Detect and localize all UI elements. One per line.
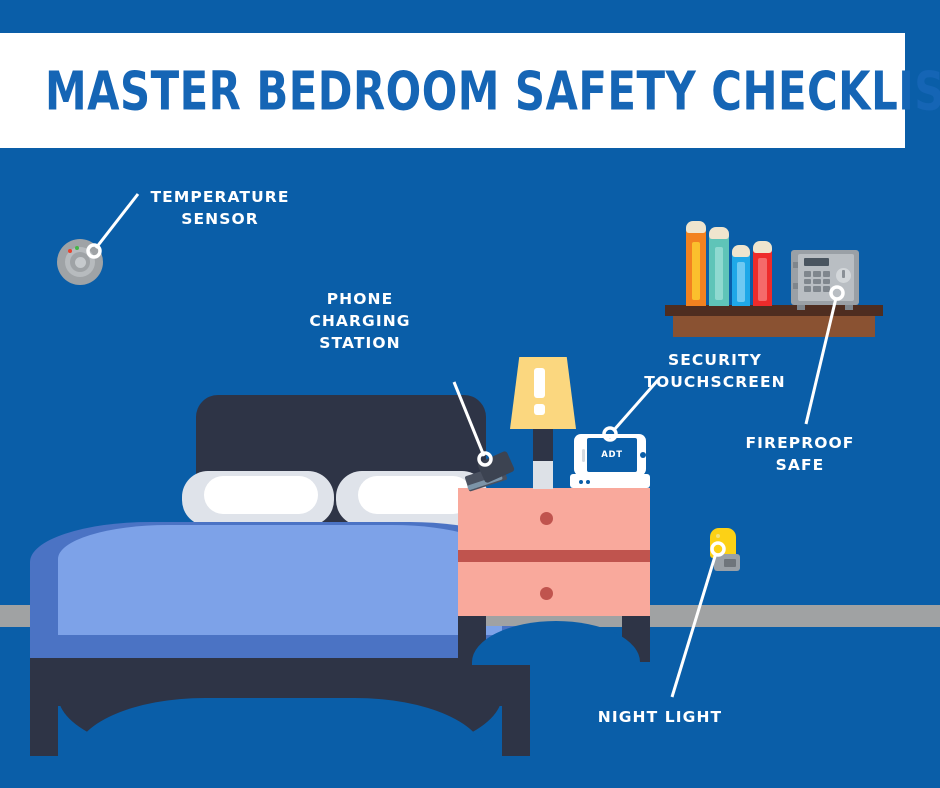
book [709,234,729,306]
book-pages-top [753,241,772,253]
lamp-exclamation-icon [534,368,545,398]
nightlight-indicator-icon [716,534,720,538]
callout-label-fireproof-safe: FIREPROOF SAFE [710,432,890,476]
safe-key[interactable] [813,271,820,277]
bed-sheet [58,525,502,635]
safe-key[interactable] [804,279,811,285]
book-stripe [692,242,701,300]
title-banner: MASTER BEDROOM SAFETY CHECKLIST [0,33,905,148]
lamp-exclamation-dot-icon [534,404,545,415]
book-stripe [715,247,724,300]
nightstand-knob-bottom [540,587,553,600]
book-stripe [737,262,745,302]
leader-line-night-light [670,545,730,705]
book-pages-top [709,227,729,239]
book-row [686,226,776,306]
safe-display [804,258,829,266]
callout-label-temperature-sensor: TEMPERATURE SENSOR [120,186,320,230]
safe-key[interactable] [813,279,820,285]
touchscreen-dock-dot-2 [586,480,590,484]
nightstand [458,488,650,663]
nightstand-knob-top [540,512,553,525]
sensor-led-red-icon [68,249,72,253]
safe-hinge-bottom [793,283,798,289]
safe-hinge-top [793,262,798,268]
book [686,228,706,306]
infographic-canvas: MASTER BEDROOM SAFETY CHECKLIST TEMPERAT… [0,0,940,788]
touchscreen-speaker [582,449,585,462]
leader-line-fireproof-safe [800,288,860,428]
book-pages-top [686,221,706,233]
sensor-led-green-icon [75,246,79,250]
callout-label-phone-charging-station: PHONE CHARGING STATION [255,288,465,354]
bed-base-arch-cutout [75,698,485,758]
book [732,252,750,306]
lamp-neck [533,429,553,461]
page-title-text: MASTER BEDROOM SAFETY CHECKLIST [45,59,940,122]
safe-key[interactable] [823,271,830,277]
touchscreen-home-button[interactable] [640,452,646,458]
safe-key[interactable] [804,271,811,277]
leader-line-phone-charging-station [460,380,520,470]
pillow-right-inner [358,476,472,514]
callout-label-security-touchscreen: SECURITY TOUCHSCREEN [625,349,805,393]
bed-leg-left [30,706,58,756]
book-stripe [758,258,766,301]
safe-key[interactable] [823,279,830,285]
book-pages-top [732,245,750,257]
pillow-left-inner [204,476,318,514]
book [753,248,772,306]
bed-leg-right [502,706,530,756]
pillow-left [182,471,334,526]
safe-dial-handle[interactable] [842,270,845,278]
touchscreen-dock-dot-1 [579,480,583,484]
nightstand-leg-arch-cutout [472,621,640,665]
nightstand-drawer-divider [458,550,650,562]
callout-label-night-light: NIGHT LIGHT [565,706,755,728]
page-title: MASTER BEDROOM SAFETY CHECKLIST [45,64,940,117]
lamp-stem [533,461,553,489]
